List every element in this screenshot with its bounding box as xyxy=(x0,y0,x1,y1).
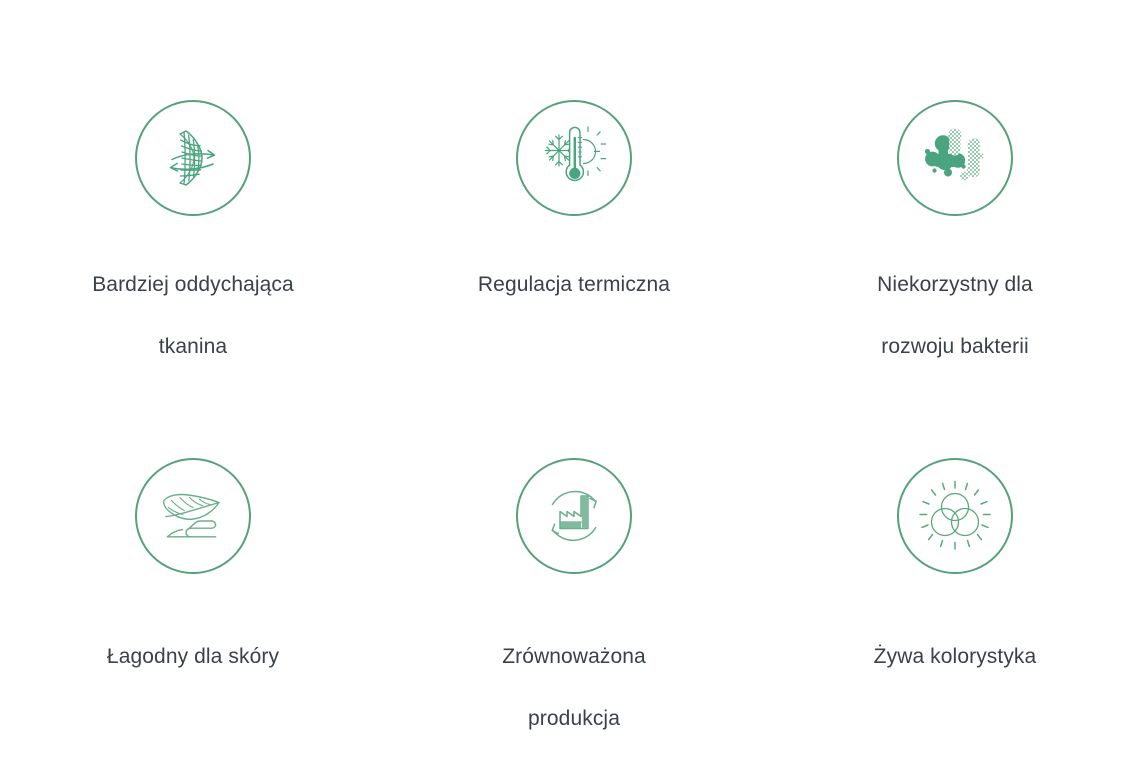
factory-recycle-icon xyxy=(516,458,632,574)
feature-label-breathable-fabric: Bardziej oddychająca tkanina xyxy=(43,254,343,378)
feature-item-thermal-regulation: Regulacja termiczna xyxy=(386,0,762,390)
fabric-airflow-icon xyxy=(135,100,251,216)
feature-item-antibacterial: Niekorzystny dla rozwoju bakterii xyxy=(762,0,1148,390)
feature-label-gentle-on-skin: Łagodny dla skóry xyxy=(43,626,343,688)
features-grid: Bardziej oddychająca tkanina xyxy=(0,0,1148,780)
feature-item-sustainable-production: Zrównoważona produkcja xyxy=(386,390,762,780)
feather-hand-icon xyxy=(135,458,251,574)
feature-item-breathable-fabric: Bardziej oddychająca tkanina xyxy=(0,0,386,390)
feature-label-vivid-colors: Żywa kolorystyka xyxy=(815,626,1095,688)
bacteria-icon xyxy=(897,100,1013,216)
feature-label-thermal-regulation: Regulacja termiczna xyxy=(414,254,734,316)
feature-label-sustainable-production: Zrównoważona produkcja xyxy=(414,626,734,750)
feature-item-vivid-colors: Żywa kolorystyka xyxy=(762,390,1148,780)
thermometer-snowflake-sun-icon xyxy=(516,100,632,216)
color-circles-rays-icon xyxy=(897,458,1013,574)
feature-item-gentle-on-skin: Łagodny dla skóry xyxy=(0,390,386,780)
feature-label-antibacterial: Niekorzystny dla rozwoju bakterii xyxy=(815,254,1095,378)
